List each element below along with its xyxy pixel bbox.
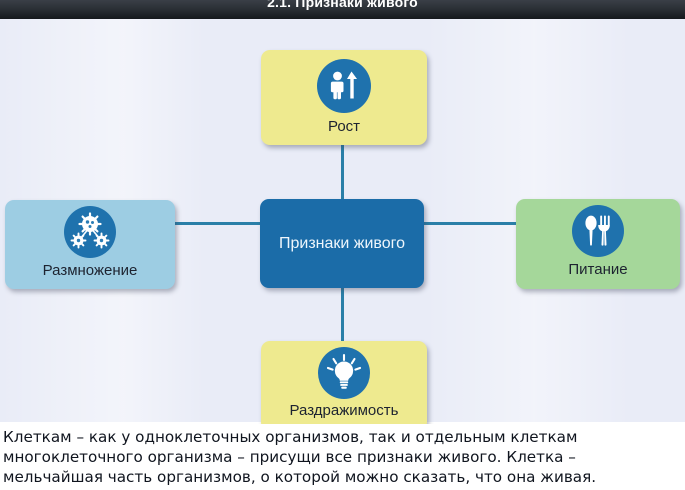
node-reproduction-label: Размножение xyxy=(5,263,175,280)
node-irritability-label: Раздражимость xyxy=(261,403,427,420)
node-center-signs-of-life[interactable]: Признаки живого xyxy=(260,199,424,288)
spoon-fork-icon xyxy=(572,205,624,257)
connector-center-to-reproduction xyxy=(168,222,263,225)
growing-child-arrow-icon xyxy=(317,59,371,113)
node-nutrition[interactable]: Питание xyxy=(516,199,680,289)
node-center-label: Признаки живого xyxy=(260,235,424,253)
node-growth[interactable]: Рост xyxy=(261,50,427,145)
node-irritability[interactable]: Раздражимость xyxy=(261,341,427,431)
node-growth-label: Рост xyxy=(261,119,427,136)
slide-page: 2.1. Признаки живого Рост xyxy=(0,0,685,490)
connector-center-to-nutrition xyxy=(421,222,521,225)
body-paragraph: Клеткам – как у одноклеточных организмов… xyxy=(0,424,685,490)
body-line-1: Клеткам – как у одноклеточных организмов… xyxy=(3,427,681,447)
light-bulb-icon xyxy=(318,347,370,399)
body-line-2: многоклеточного организма – присущи все … xyxy=(3,447,681,467)
node-nutrition-label: Питание xyxy=(516,262,680,279)
concept-map-canvas: Рост xyxy=(0,19,685,422)
cell-division-icon xyxy=(64,206,116,258)
body-line-3: мельчайшая часть организмов, о которой м… xyxy=(3,467,681,487)
node-reproduction[interactable]: Размножение xyxy=(5,200,175,289)
page-title: 2.1. Признаки живого xyxy=(0,0,685,12)
slide-header-bar: 2.1. Признаки живого xyxy=(0,0,685,19)
